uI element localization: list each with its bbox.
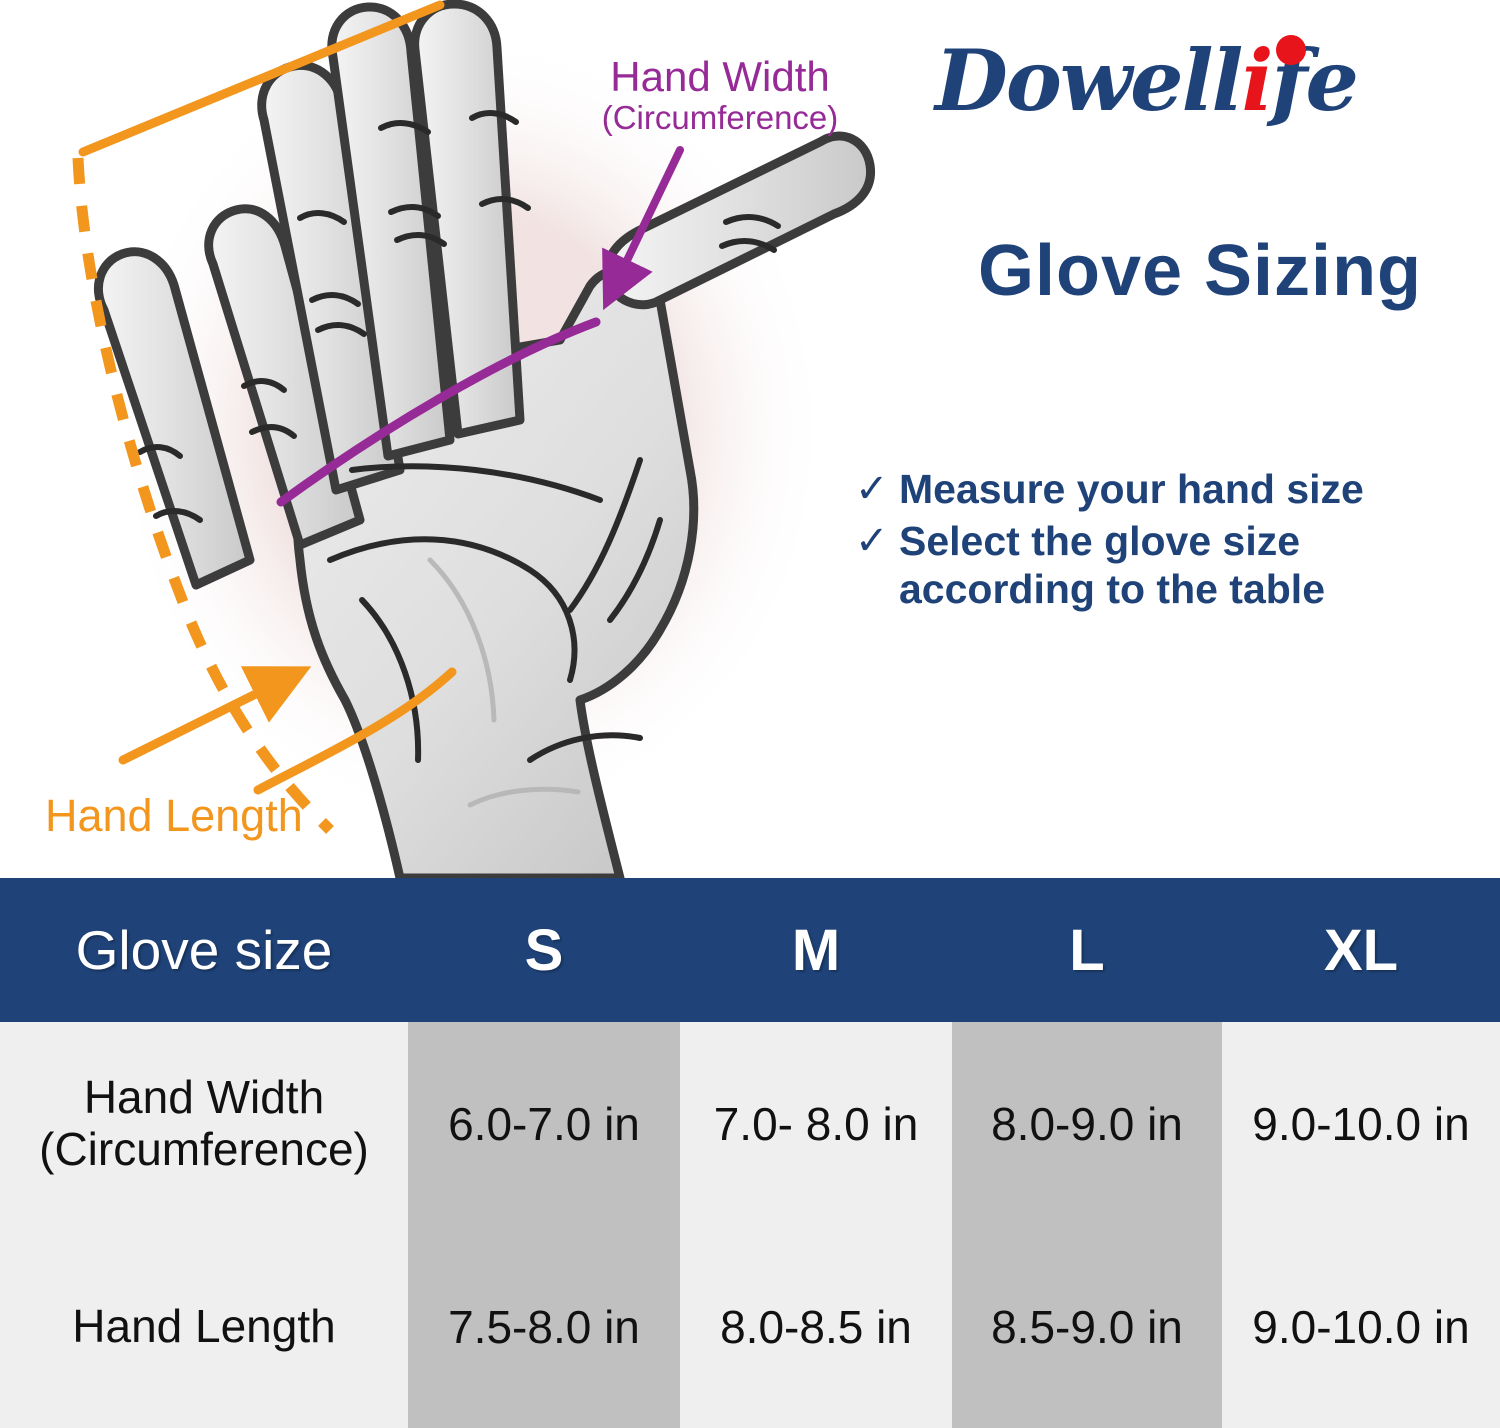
check-icon: ✓: [855, 465, 899, 513]
brand-logo-text-part1: Dowell: [935, 31, 1241, 130]
cell-hand-length-s: 7.5-8.0 in: [408, 1225, 680, 1428]
instruction-list: ✓ Measure your hand size ✓ Select the gl…: [855, 465, 1455, 617]
hand-width-label-line2: (Circumference): [560, 99, 880, 137]
hand-length-label: Hand Length: [45, 790, 303, 842]
cell-hand-length-xl: 9.0-10.0 in: [1222, 1225, 1500, 1428]
glove-sizing-infographic: Hand Width (Circumference) Hand Length D…: [0, 0, 1500, 1428]
cell-hand-width-m: 7.0- 8.0 in: [680, 1022, 952, 1225]
table-row: Hand Width (Circumference) 6.0-7.0 in 7.…: [0, 1022, 1500, 1225]
list-item: ✓ Measure your hand size: [855, 465, 1455, 513]
glove-size-table: Glove size S M L XL Hand Width (Circumfe…: [0, 878, 1500, 1428]
brand-logo-text: Dowellife: [935, 28, 1435, 133]
cell-hand-length-l: 8.5-9.0 in: [952, 1225, 1222, 1428]
cell-hand-width-l: 8.0-9.0 in: [952, 1022, 1222, 1225]
table-header-xl: XL: [1222, 878, 1500, 1022]
row-label-hand-length: Hand Length: [0, 1225, 408, 1428]
list-item: ✓ Select the glove size according to the…: [855, 517, 1455, 613]
row-label-line1: Hand Width: [0, 1072, 408, 1124]
brand-logo-dot-icon: [1276, 35, 1306, 65]
table-header-row: Glove size S M L XL: [0, 878, 1500, 1022]
row-label-line2: (Circumference): [0, 1124, 408, 1176]
check-icon: ✓: [855, 517, 899, 565]
table-header-m: M: [680, 878, 952, 1022]
hand-width-label-line1: Hand Width: [560, 55, 880, 99]
row-label-hand-width: Hand Width (Circumference): [0, 1022, 408, 1225]
brand-logo: Dowellife: [935, 28, 1435, 133]
instruction-text: Measure your hand size: [899, 465, 1455, 513]
table-header-s: S: [408, 878, 680, 1022]
instruction-text: Select the glove size according to the t…: [899, 517, 1455, 613]
cell-hand-length-m: 8.0-8.5 in: [680, 1225, 952, 1428]
table-row: Hand Length 7.5-8.0 in 8.0-8.5 in 8.5-9.…: [0, 1225, 1500, 1428]
table-header-glove-size: Glove size: [0, 878, 408, 1022]
cell-hand-width-xl: 9.0-10.0 in: [1222, 1022, 1500, 1225]
page-title: Glove Sizing: [930, 230, 1470, 312]
brand-logo-text-accent: i: [1241, 31, 1271, 130]
hand-width-label: Hand Width (Circumference): [560, 55, 880, 137]
cell-hand-width-s: 6.0-7.0 in: [408, 1022, 680, 1225]
table-header-l: L: [952, 878, 1222, 1022]
